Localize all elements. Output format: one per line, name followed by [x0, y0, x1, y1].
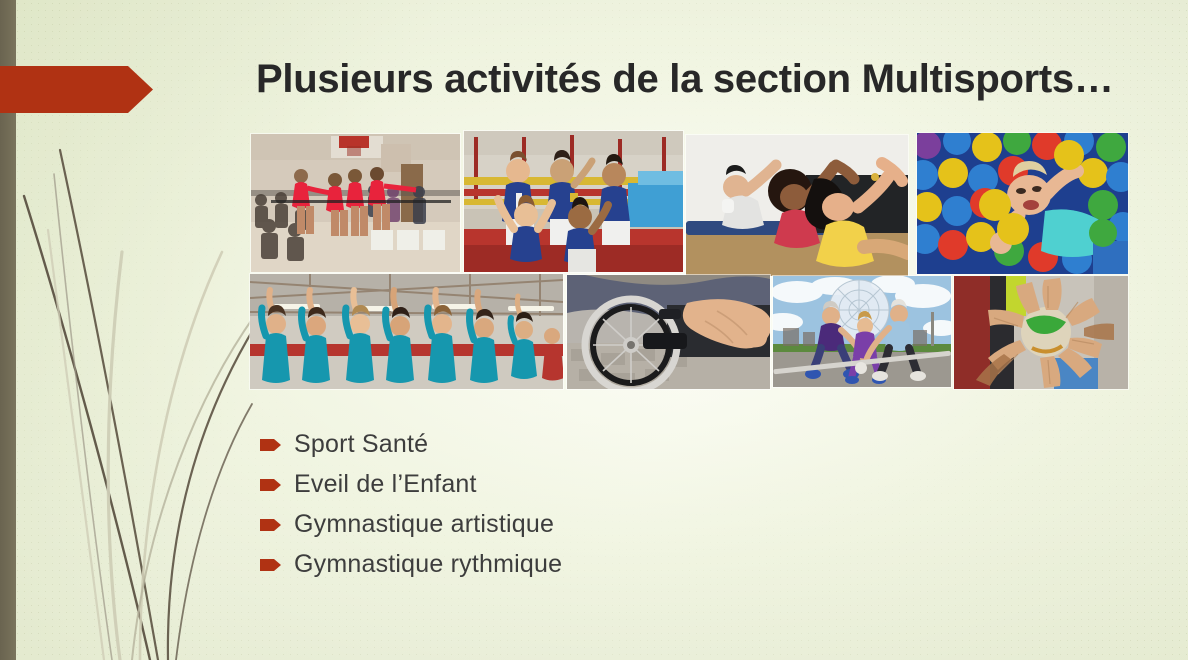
- list-item[interactable]: Sport Santé: [260, 424, 960, 464]
- list-item[interactable]: Gymnastique rythmique: [260, 544, 960, 584]
- pennant-bullet-icon: [260, 518, 282, 532]
- activity-list: Sport Santé Eveil de l’Enfant Gymnastiqu…: [260, 424, 960, 584]
- photo-hands-team-ball: [954, 276, 1128, 389]
- photo-seniors-and-child-outdoor: [773, 276, 951, 387]
- pennant-bullet-icon: [260, 558, 282, 572]
- list-item[interactable]: Gymnastique artistique: [260, 504, 960, 544]
- photo-child-ball-pit: [917, 133, 1128, 274]
- pennant-bullet-icon: [260, 478, 282, 492]
- list-item-label: Gymnastique artistique: [294, 512, 554, 537]
- photo-rhythmic-gymnastics-team: [251, 134, 460, 272]
- list-item-label: Sport Santé: [294, 432, 428, 457]
- list-item-label: Gymnastique rythmique: [294, 552, 562, 577]
- page-title: Plusieurs activités de la section Multis…: [256, 56, 1136, 102]
- photo-wheelchair-sport: [567, 275, 770, 389]
- list-item[interactable]: Eveil de l’Enfant: [260, 464, 960, 504]
- photo-adults-abdominal-workout: [686, 135, 908, 276]
- presentation-slide: Plusieurs activités de la section Multis…: [0, 0, 1188, 660]
- left-accent-bar: [0, 0, 16, 660]
- pennant-bullet-icon: [260, 438, 282, 452]
- photo-boys-gymnastics-group: [464, 131, 683, 272]
- photo-girls-gym-class: [250, 274, 563, 389]
- list-item-label: Eveil de l’Enfant: [294, 472, 477, 497]
